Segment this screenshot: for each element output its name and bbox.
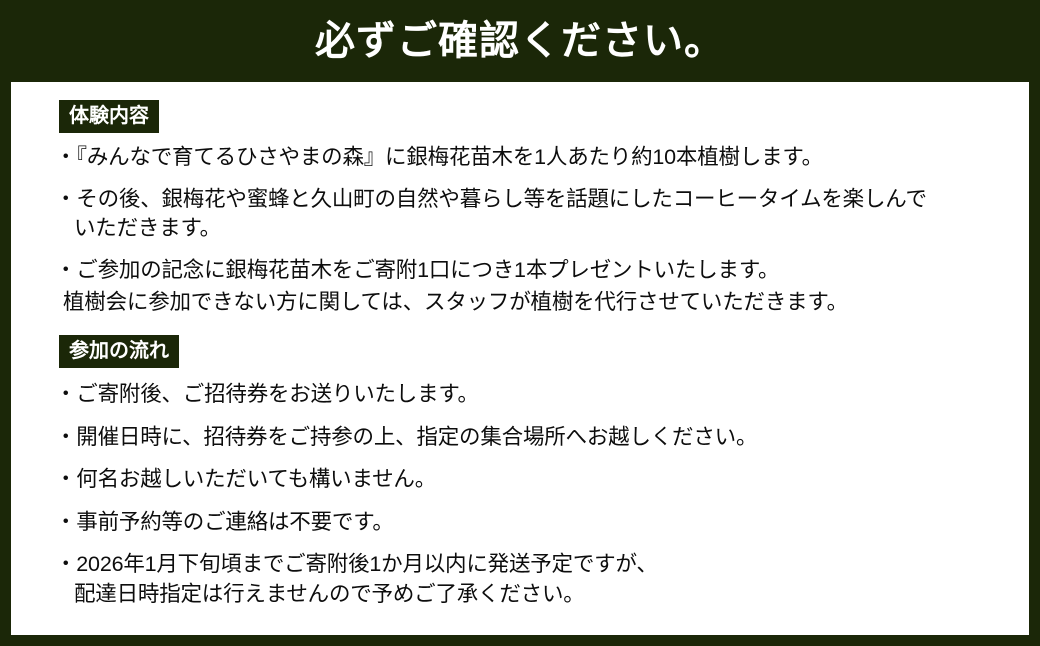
section-badge-experience-content: 体験内容 [59,100,159,133]
list-item: ・開催日時に、招待券をご持参の上、指定の集合場所へお越しください。 [37,423,1003,452]
notice-poster: 必ずご確認ください。 体験内容 ・『みんなで育てるひさやまの森』に銀梅花苗木を1… [0,0,1040,646]
list-item-continuation: いただきます。 [37,214,1003,243]
note-paragraph: 植樹会に参加できない方に関しては、スタッフが植樹を代行させていただきます。 [37,288,1003,317]
content-panel: 体験内容 ・『みんなで育てるひさやまの森』に銀梅花苗木を1人あたり約10本植樹し… [7,82,1033,639]
header-band: 必ずご確認ください。 [0,0,1040,82]
list-item: ・何名お越しいただいても構いません。 [37,465,1003,494]
list-item: ・ご寄附後、ご招待券をお送りいたします。 [37,380,1003,409]
section-participation-flow: 参加の流れ ・ご寄附後、ご招待券をお送りいたします。 ・開催日時に、招待券をご持… [37,335,1003,609]
list-item: ・その後、銀梅花や蜜蜂と久山町の自然や暮らし等を話題にしたコーヒータイムを楽しん… [37,185,1003,214]
list-item: ・『みんなで育てるひさやまの森』に銀梅花苗木を1人あたり約10本植樹します。 [37,143,1003,172]
section-experience-content: 体験内容 ・『みんなで育てるひさやまの森』に銀梅花苗木を1人あたり約10本植樹し… [37,100,1003,317]
page-title: 必ずご確認ください。 [315,21,725,61]
list-item: ・ご参加の記念に銀梅花苗木をご寄附1口につき1本プレゼントいたします。 [37,256,1003,285]
section-badge-participation-flow: 参加の流れ [59,335,179,368]
list-item: ・事前予約等のご連絡は不要です。 [37,508,1003,537]
list-item: ・2026年1月下旬頃までご寄附後1か月以内に発送予定ですが、 [37,550,1003,579]
list-item-continuation: 配達日時指定は行えませんので予めご了承ください。 [37,580,1003,609]
